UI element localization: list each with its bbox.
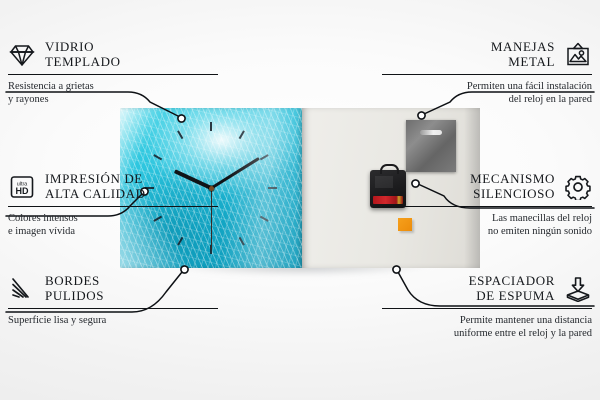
callout-divider: [382, 206, 592, 207]
tick-mark: [239, 237, 245, 246]
callout-header: Espaciador de espuma: [382, 274, 592, 303]
picture-frame-hanging-icon: [564, 42, 592, 68]
callout-espaciador-espuma[interactable]: Espaciador de espuma Permite mantener un…: [382, 274, 592, 340]
tick-mark: [268, 187, 277, 189]
tick-mark: [177, 237, 183, 246]
tick-mark: [239, 130, 245, 139]
callout-divider: [8, 206, 218, 207]
callout-title: Bordes Pulidos: [45, 274, 104, 303]
polished-edges-icon: [8, 276, 36, 302]
foam-spacer-icon: [564, 276, 592, 302]
ultra-hd-icon: ultra HD: [8, 174, 36, 200]
callout-subtitle: Superficie lisa y segura: [8, 315, 218, 328]
callout-impresion-alta-calidad[interactable]: ultra HD Impresión de Alta calidad Color…: [8, 172, 218, 238]
callout-title: Espaciador de espuma: [469, 274, 555, 303]
callout-title: Impresión de Alta calidad: [45, 172, 146, 201]
callout-subtitle: Resistencia a grietas y rayones: [8, 81, 218, 106]
tick-mark: [177, 130, 183, 139]
callout-divider: [8, 74, 218, 75]
metal-hanger-plate: [406, 120, 456, 172]
callout-header: ultra HD Impresión de Alta calidad: [8, 172, 218, 201]
callout-subtitle: Las manecillas del reloj no emiten ningú…: [382, 213, 592, 238]
tick-mark: [153, 154, 162, 160]
hanger-slot: [420, 130, 442, 135]
svg-text:HD: HD: [16, 186, 29, 196]
tick-mark: [260, 216, 269, 222]
callout-bordes-pulidos[interactable]: Bordes Pulidos Superficie lisa y segura: [8, 274, 218, 328]
infographic-canvas: Vidrio Templado Resistencia a grietas y …: [0, 0, 600, 400]
callout-title: Manejas Metal: [491, 40, 555, 69]
callout-subtitle: Permiten una fácil instalación del reloj…: [382, 81, 592, 106]
callout-vidrio-templado[interactable]: Vidrio Templado Resistencia a grietas y …: [8, 40, 218, 106]
callout-divider: [8, 308, 218, 309]
callout-header: Manejas Metal: [382, 40, 592, 69]
callout-subtitle: Colores intensos e imagen vívida: [8, 213, 218, 238]
callout-manejas-metal[interactable]: Manejas Metal Permiten una fácil instala…: [382, 40, 592, 106]
tick-mark: [260, 154, 269, 160]
gear-icon: [564, 174, 592, 200]
tick-mark: [210, 122, 212, 131]
callout-title: Vidrio Templado: [45, 40, 121, 69]
diamond-icon: [8, 42, 36, 68]
tick-mark: [210, 245, 212, 254]
callout-subtitle: Permite mantener una distancia uniforme …: [382, 315, 592, 340]
callout-divider: [382, 74, 592, 75]
callout-title: Mecanismo Silencioso: [470, 172, 555, 201]
callout-divider: [382, 308, 592, 309]
callout-header: Vidrio Templado: [8, 40, 218, 69]
callout-header: Bordes Pulidos: [8, 274, 218, 303]
callout-header: Mecanismo Silencioso: [382, 172, 592, 201]
callout-mecanismo-silencioso[interactable]: Mecanismo Silencioso Las manecillas del …: [382, 172, 592, 238]
